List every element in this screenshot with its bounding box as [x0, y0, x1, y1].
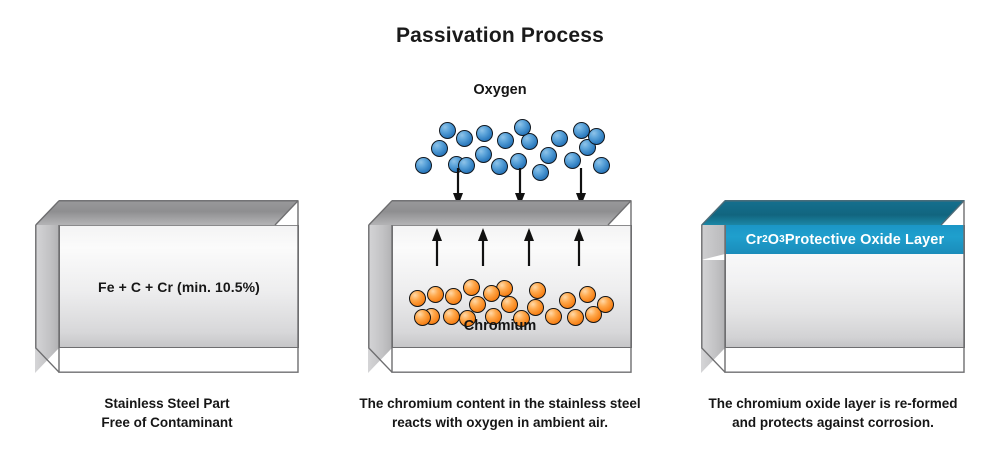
- oxygen-atom: [521, 133, 538, 150]
- panel-2-caption: The chromium content in the stainless st…: [333, 394, 667, 432]
- oxide-layer-label: Cr2O3 Protective Oxide Layer: [725, 225, 965, 254]
- panel-stainless-steel-part: Fe + C + Cr (min. 10.5%) Stainless Steel…: [0, 0, 334, 475]
- passivation-diagram: Passivation Process Fe + C + Cr (min. 10…: [0, 0, 1000, 475]
- chromium-heading: Chromium: [333, 318, 667, 334]
- steel-block-2: [368, 200, 632, 373]
- oxygen-atom: [532, 164, 549, 181]
- oxygen-atom: [475, 146, 492, 163]
- oxide-label-o: O: [768, 232, 779, 248]
- oxygen-atom: [491, 158, 508, 175]
- oxygen-atom: [514, 119, 531, 136]
- panel-3-caption: The chromium oxide layer is re-formed an…: [666, 394, 1000, 432]
- caption-line-2: and protects against corrosion.: [666, 413, 1000, 432]
- oxide-label-cr: Cr: [746, 232, 762, 248]
- oxide-label-suffix: Protective Oxide Layer: [785, 232, 944, 248]
- oxygen-atom: [431, 140, 448, 157]
- steel-block-3: Cr2O3 Protective Oxide Layer: [701, 200, 965, 373]
- panel-protective-oxide-layer: Cr2O3 Protective Oxide Layer The chromiu…: [666, 0, 1000, 475]
- block-left-face: [368, 225, 393, 373]
- oxygen-atom: [497, 132, 514, 149]
- oxygen-atom: [415, 157, 432, 174]
- steel-block-1: Fe + C + Cr (min. 10.5%): [35, 200, 299, 373]
- block-front-face: [725, 254, 965, 348]
- caption-line-1: The chromium content in the stainless st…: [333, 394, 667, 413]
- oxide-left-face: [701, 225, 726, 260]
- block-left-face: [701, 260, 726, 373]
- block-top-face: [368, 200, 632, 225]
- oxygen-atom: [540, 147, 557, 164]
- caption-line-1: The chromium oxide layer is re-formed: [666, 394, 1000, 413]
- oxygen-atom: [564, 152, 581, 169]
- oxygen-atom: [593, 157, 610, 174]
- panel-1-caption: Stainless Steel Part Free of Contaminant: [0, 394, 334, 432]
- oxygen-atom: [573, 122, 590, 139]
- oxygen-atom: [551, 130, 568, 147]
- block-top-face: [35, 200, 299, 225]
- block-composition-label: Fe + C + Cr (min. 10.5%): [59, 225, 299, 348]
- oxygen-atom: [579, 139, 596, 156]
- caption-line-2: reacts with oxygen in ambient air.: [333, 413, 667, 432]
- oxygen-atom: [439, 122, 456, 139]
- oxygen-atom: [510, 153, 527, 170]
- caption-line-1: Stainless Steel Part: [0, 394, 334, 413]
- oxygen-atom: [588, 128, 605, 145]
- block-left-face: [35, 225, 60, 373]
- oxygen-heading: Oxygen: [333, 82, 667, 98]
- caption-line-2: Free of Contaminant: [0, 413, 334, 432]
- oxygen-atom: [448, 156, 465, 173]
- oxygen-atom: [476, 125, 493, 142]
- panel-passivation-reaction: Oxygen Chromium The chromium content in …: [333, 0, 667, 475]
- oxygen-atom: [458, 157, 475, 174]
- oxygen-atom: [456, 130, 473, 147]
- oxide-layer-top-face: [701, 200, 965, 225]
